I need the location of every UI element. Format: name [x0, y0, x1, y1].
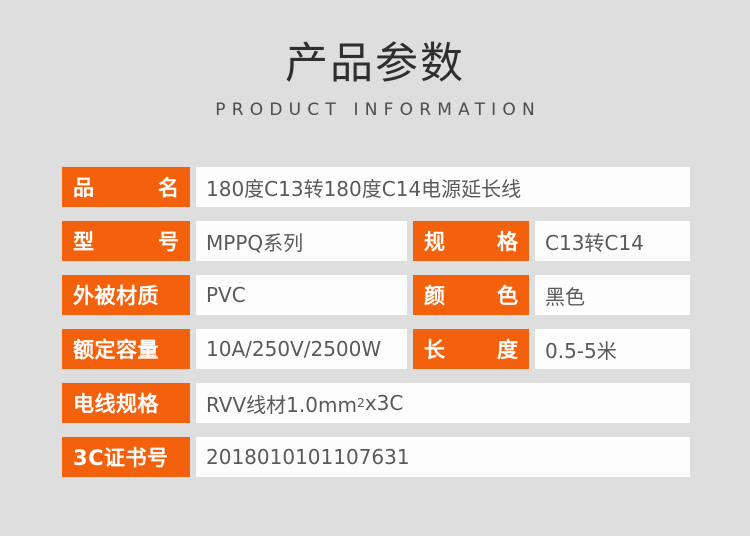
spec-value-model: MPPQ系列 [196, 221, 407, 261]
spec-value-product-name: 180度C13转180度C14电源延长线 [196, 167, 690, 207]
spec-row-wire-spec: 电线规格 RVV线材1.0mm2x3C [62, 383, 690, 423]
spec-label-wire-specification: 电线规格 [62, 383, 190, 423]
spec-row-capacity-length: 额定容量 10A/250V/2500W 长 度 0.5-5米 [62, 329, 690, 369]
page-heading: 产品参数 PRODUCT INFORMATION [0, 36, 750, 121]
spec-label-product-name: 品 名 [62, 167, 190, 207]
spec-label-rated-capacity: 额定容量 [62, 329, 190, 369]
spec-label-model: 型 号 [62, 221, 190, 261]
spec-label-char-first: 颜 [424, 280, 445, 310]
spec-label-specification: 规 格 [413, 221, 529, 261]
spec-value-color: 黑色 [535, 275, 690, 315]
spec-value-wire-specification: RVV线材1.0mm2x3C [196, 383, 690, 423]
spec-label-char-last: 格 [497, 226, 518, 256]
spec-row-3c-certificate: 3C证书号 2018010101107631 [62, 437, 690, 477]
spec-label-char-last: 色 [497, 280, 518, 310]
page-subtitle: PRODUCT INFORMATION [0, 99, 750, 121]
wire-spec-suffix: x3C [365, 391, 404, 415]
spec-label-char-last: 号 [158, 226, 179, 256]
page-title: 产品参数 [0, 36, 750, 92]
specification-table: 品 名 180度C13转180度C14电源延长线 型 号 MPPQ系列 规 格 … [62, 167, 690, 477]
spec-label-char-last: 度 [497, 334, 518, 364]
spec-label-3c-certificate: 3C证书号 [62, 437, 190, 477]
spec-row-product-name: 品 名 180度C13转180度C14电源延长线 [62, 167, 690, 207]
spec-label-char-first: 长 [424, 334, 445, 364]
spec-row-model-spec: 型 号 MPPQ系列 规 格 C13转C14 [62, 221, 690, 261]
spec-value-length: 0.5-5米 [535, 329, 690, 369]
spec-label-char-last: 名 [158, 172, 179, 202]
spec-label-char-first: 品 [73, 172, 94, 202]
product-information-page: 产品参数 PRODUCT INFORMATION 品 名 180度C13转180… [0, 0, 750, 536]
spec-label-color: 颜 色 [413, 275, 529, 315]
spec-value-specification: C13转C14 [535, 221, 690, 261]
spec-value-3c-certificate: 2018010101107631 [196, 437, 690, 477]
spec-value-jacket-material: PVC [196, 275, 407, 315]
spec-label-length: 长 度 [413, 329, 529, 369]
spec-row-jacket-color: 外被材质 PVC 颜 色 黑色 [62, 275, 690, 315]
spec-label-char-first: 规 [424, 226, 445, 256]
spec-label-char-first: 型 [73, 226, 94, 256]
spec-label-jacket-material: 外被材质 [62, 275, 190, 315]
wire-spec-prefix: RVV线材1.0mm [206, 389, 357, 418]
spec-value-rated-capacity: 10A/250V/2500W [196, 329, 407, 369]
